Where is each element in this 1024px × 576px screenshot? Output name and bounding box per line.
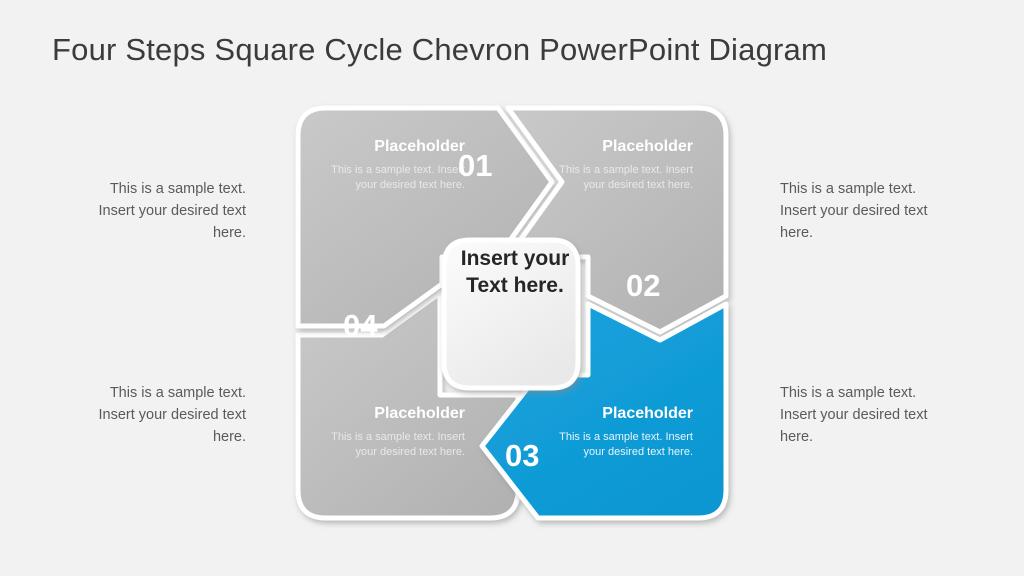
step-text-03: Placeholder This is a sample text. Inser… bbox=[558, 405, 693, 460]
cycle-chevron-diagram: Placeholder This is a sample text. Inser… bbox=[290, 100, 734, 530]
slide-canvas: Four Steps Square Cycle Chevron PowerPoi… bbox=[0, 0, 1024, 576]
page-title: Four Steps Square Cycle Chevron PowerPoi… bbox=[52, 32, 827, 68]
step-number-01: 01 bbox=[458, 150, 492, 181]
step-body-04: This is a sample text. Insert your desir… bbox=[330, 430, 465, 460]
step-number-03: 03 bbox=[505, 440, 539, 471]
caption-bottom-left: This is a sample text. Insert your desir… bbox=[76, 382, 246, 448]
step-text-01: Placeholder This is a sample text. Inser… bbox=[330, 138, 465, 193]
step-text-04: Placeholder This is a sample text. Inser… bbox=[330, 405, 465, 460]
step-body-03: This is a sample text. Insert your desir… bbox=[558, 430, 693, 460]
step-heading-01: Placeholder bbox=[330, 138, 465, 156]
step-number-04: 04 bbox=[343, 310, 377, 341]
step-heading-04: Placeholder bbox=[330, 405, 465, 423]
caption-bottom-right: This is a sample text. Insert your desir… bbox=[780, 382, 950, 448]
step-body-02: This is a sample text. Insert your desir… bbox=[558, 163, 693, 193]
step-body-01: This is a sample text. Insert your desir… bbox=[330, 163, 465, 193]
step-heading-03: Placeholder bbox=[558, 405, 693, 423]
caption-top-right: This is a sample text. Insert your desir… bbox=[780, 178, 950, 244]
step-number-02: 02 bbox=[626, 270, 660, 301]
center-label: Insert your Text here. bbox=[445, 245, 585, 299]
step-heading-02: Placeholder bbox=[558, 138, 693, 156]
caption-top-left: This is a sample text. Insert your desir… bbox=[76, 178, 246, 244]
step-text-02: Placeholder This is a sample text. Inser… bbox=[558, 138, 693, 193]
